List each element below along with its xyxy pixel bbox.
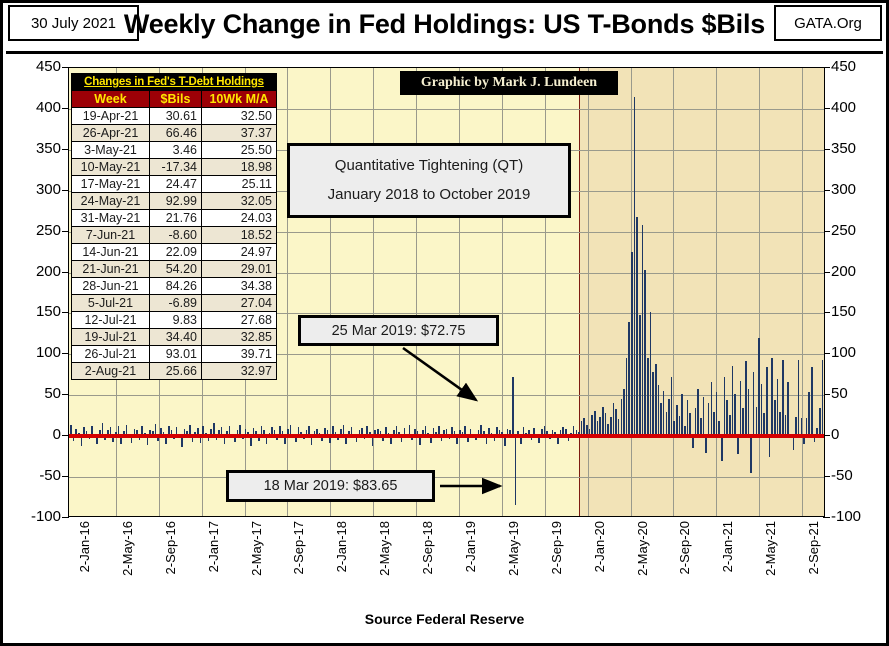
table-row: 31-May-2121.7624.03 xyxy=(72,210,277,227)
bar xyxy=(769,436,771,456)
cell-bils: 66.46 xyxy=(150,125,202,142)
bar xyxy=(819,408,821,436)
cell-bils: 92.99 xyxy=(150,193,202,210)
bar xyxy=(681,394,683,437)
cell-bils: 3.46 xyxy=(150,142,202,159)
page-title: Weekly Change in Fed Holdings: US T-Bond… xyxy=(3,9,886,40)
bar xyxy=(771,358,773,437)
cell-week: 7-Jun-21 xyxy=(72,227,150,244)
bar xyxy=(753,372,755,436)
bar xyxy=(613,403,615,437)
cell-week: 12-Jul-21 xyxy=(72,312,150,329)
bar xyxy=(591,415,593,436)
x-axis-tick-label: 2-Sep-18 xyxy=(420,521,435,574)
y-axis-tick-label: -50 xyxy=(831,469,877,483)
cell-bils: 22.09 xyxy=(150,244,202,261)
bar xyxy=(631,252,633,436)
y-axis-tick-label: 250 xyxy=(17,224,61,238)
cell-week: 10-May-21 xyxy=(72,159,150,176)
bar xyxy=(605,413,607,436)
bar xyxy=(655,364,657,436)
cell-ma: 25.50 xyxy=(202,142,277,159)
bar xyxy=(594,411,596,436)
header-divider xyxy=(6,51,883,54)
bar xyxy=(639,315,641,436)
y-axis-tick-label: 400 xyxy=(17,101,61,115)
cell-bils: -6.89 xyxy=(150,295,202,312)
bar xyxy=(644,270,646,436)
x-axis-tick-label: 2-Jan-20 xyxy=(592,521,607,572)
bar xyxy=(716,392,718,436)
bar xyxy=(782,360,784,436)
x-axis-tick-label: 2-Sep-21 xyxy=(806,521,821,574)
cell-week: 3-May-21 xyxy=(72,142,150,159)
cell-ma: 32.05 xyxy=(202,193,277,210)
callout-low-box: 18 Mar 2019: $83.65 xyxy=(226,470,435,502)
zero-line xyxy=(69,434,825,438)
bar xyxy=(602,407,604,436)
bar xyxy=(697,389,699,436)
cell-bils: -8.60 xyxy=(150,227,202,244)
table-head: Changes in Fed's T-Debt Holdings Week $B… xyxy=(72,74,277,108)
cell-week: 17-May-21 xyxy=(72,176,150,193)
y-axis-tick-label: 450 xyxy=(17,60,61,74)
bar xyxy=(798,360,800,436)
cell-ma: 32.97 xyxy=(202,363,277,380)
cell-week: 21-Jun-21 xyxy=(72,261,150,278)
cell-ma: 37.37 xyxy=(202,125,277,142)
bar xyxy=(785,415,787,436)
bar xyxy=(732,366,734,436)
x-axis-tick-label: 2-Sep-19 xyxy=(549,521,564,574)
cell-week: 2-Aug-21 xyxy=(72,363,150,380)
x-axis-tick-label: 2-Sep-16 xyxy=(163,521,178,574)
cell-bils: 84.26 xyxy=(150,278,202,295)
x-axis-tick-label: 2-May-21 xyxy=(763,521,778,576)
cell-bils: 9.83 xyxy=(150,312,202,329)
cell-ma: 27.04 xyxy=(202,295,277,312)
cell-ma: 27.68 xyxy=(202,312,277,329)
table-row: 7-Jun-21-8.6018.52 xyxy=(72,227,277,244)
bar xyxy=(745,361,747,436)
cell-bils: 93.01 xyxy=(150,346,202,363)
bar xyxy=(763,413,765,436)
bar xyxy=(824,415,825,436)
bar xyxy=(787,382,789,436)
bar xyxy=(663,391,665,436)
cell-ma: 32.85 xyxy=(202,329,277,346)
bar xyxy=(758,338,760,436)
x-axis: 2-Jan-162-May-162-Sep-162-Jan-172-May-17… xyxy=(68,521,825,611)
table-row: 28-Jun-2184.2634.38 xyxy=(72,278,277,295)
y-axis-tick-label: 150 xyxy=(17,305,61,319)
cell-ma: 32.50 xyxy=(202,108,277,125)
table-row: 2-Aug-2125.6632.97 xyxy=(72,363,277,380)
bar xyxy=(666,412,668,437)
y-axis-tick-label: 150 xyxy=(831,305,877,319)
table-row: 19-Apr-2130.6132.50 xyxy=(72,108,277,125)
table-row: 12-Jul-219.8327.68 xyxy=(72,312,277,329)
x-axis-tick-label: 2-May-19 xyxy=(506,521,521,576)
table-row: 21-Jun-2154.2029.01 xyxy=(72,261,277,278)
y-axis-tick-label: 300 xyxy=(17,183,61,197)
bar xyxy=(793,436,795,450)
bar xyxy=(734,394,736,437)
qt-annotation-line2: January 2018 to October 2019 xyxy=(328,181,531,210)
y-axis-tick-label: -100 xyxy=(831,510,877,524)
chart-body: 450400350300250200150100500-50-100 45040… xyxy=(3,55,886,646)
cell-ma: 18.52 xyxy=(202,227,277,244)
bar xyxy=(652,372,654,436)
column-header-bils: $Bils xyxy=(150,91,202,108)
y-axis-tick-mark xyxy=(62,517,69,518)
x-axis-tick-label: 2-May-16 xyxy=(120,521,135,576)
bar xyxy=(774,400,776,436)
table-caption-row: Changes in Fed's T-Debt Holdings xyxy=(72,74,277,91)
cell-week: 31-May-21 xyxy=(72,210,150,227)
bar xyxy=(703,397,705,436)
cell-bils: 54.20 xyxy=(150,261,202,278)
table-row: 19-Jul-2134.4032.85 xyxy=(72,329,277,346)
qt-annotation-line1: Quantitative Tightening (QT) xyxy=(335,152,523,181)
table-row: 24-May-2192.9932.05 xyxy=(72,193,277,210)
bar xyxy=(811,367,813,436)
cell-week: 5-Jul-21 xyxy=(72,295,150,312)
bar xyxy=(676,405,678,436)
bar xyxy=(636,217,638,436)
cell-ma: 34.38 xyxy=(202,278,277,295)
y-axis-right: 450400350300250200150100500-50-100 xyxy=(831,67,881,517)
bar xyxy=(623,389,625,436)
table-row: 26-Jul-2193.0139.71 xyxy=(72,346,277,363)
bar xyxy=(724,377,726,436)
cell-bils: 21.76 xyxy=(150,210,202,227)
y-axis-tick-label: 200 xyxy=(17,265,61,279)
cell-week: 26-Jul-21 xyxy=(72,346,150,363)
x-axis-tick-label: 2-May-18 xyxy=(377,521,392,576)
chart-header: 30 July 2021 Weekly Change in Fed Holdin… xyxy=(3,3,886,55)
y-axis-tick-label: 400 xyxy=(831,101,877,115)
y-axis-tick-label: 50 xyxy=(831,387,877,401)
bar xyxy=(721,436,723,461)
qt-annotation-box: Quantitative Tightening (QT) January 201… xyxy=(287,143,571,218)
bar xyxy=(628,322,630,437)
bar xyxy=(711,382,713,436)
callout-high-box: 25 Mar 2019: $72.75 xyxy=(298,315,499,346)
cell-week: 24-May-21 xyxy=(72,193,150,210)
bar xyxy=(634,97,636,437)
bar xyxy=(737,436,739,454)
bar xyxy=(687,400,689,436)
bar xyxy=(726,400,728,436)
cell-week: 28-Jun-21 xyxy=(72,278,150,295)
y-axis-tick-label: 300 xyxy=(831,183,877,197)
cell-ma: 29.01 xyxy=(202,261,277,278)
cell-ma: 24.03 xyxy=(202,210,277,227)
bar xyxy=(713,412,715,437)
x-axis-tick-label: 2-Jan-18 xyxy=(334,521,349,572)
cell-bils: 24.47 xyxy=(150,176,202,193)
credit-badge: Graphic by Mark J. Lundeen xyxy=(400,71,618,95)
cell-bils: 30.61 xyxy=(150,108,202,125)
cell-ma: 39.71 xyxy=(202,346,277,363)
bar xyxy=(742,408,744,436)
source-org-badge: GATA.Org xyxy=(774,5,882,41)
bar xyxy=(671,377,673,436)
bar xyxy=(708,403,710,436)
x-axis-title: Source Federal Reserve xyxy=(3,611,886,627)
cell-week: 14-Jun-21 xyxy=(72,244,150,261)
cell-bils: -17.34 xyxy=(150,159,202,176)
fed-holdings-table: Changes in Fed's T-Debt Holdings Week $B… xyxy=(71,73,277,380)
bar xyxy=(668,399,670,437)
column-header-ma: 10Wk M/A xyxy=(202,91,277,108)
x-axis-tick-label: 2-Sep-17 xyxy=(291,521,306,574)
x-axis-tick-label: 2-Jan-17 xyxy=(206,521,221,572)
bar xyxy=(729,415,731,436)
bar xyxy=(621,399,623,437)
chart-frame: 30 July 2021 Weekly Change in Fed Holdin… xyxy=(0,0,889,646)
bar xyxy=(705,436,707,452)
cell-week: 26-Apr-21 xyxy=(72,125,150,142)
table-header-row: Week $Bils 10Wk M/A xyxy=(72,91,277,108)
bar xyxy=(689,413,691,436)
bar xyxy=(777,379,779,436)
table-row: 14-Jun-2122.0924.97 xyxy=(72,244,277,261)
y-axis-tick-label: 50 xyxy=(17,387,61,401)
bar xyxy=(512,377,514,437)
y-axis-tick-label: 100 xyxy=(831,346,877,360)
bar xyxy=(515,436,517,504)
bar xyxy=(626,358,628,436)
bar xyxy=(822,360,824,436)
y-axis-tick-mark xyxy=(823,517,830,518)
y-axis-tick-label: -100 xyxy=(17,510,61,524)
bar xyxy=(748,389,750,436)
table-caption: Changes in Fed's T-Debt Holdings xyxy=(72,74,277,91)
bar xyxy=(679,416,681,436)
cell-bils: 34.40 xyxy=(150,329,202,346)
x-axis-tick-label: 2-Jan-16 xyxy=(77,521,92,572)
y-axis-tick-label: -50 xyxy=(17,469,61,483)
x-axis-tick-label: 2-May-20 xyxy=(635,521,650,576)
bar xyxy=(695,408,697,437)
y-axis-tick-label: 250 xyxy=(831,224,877,238)
bar xyxy=(779,412,781,437)
table-row: 26-Apr-2166.4637.37 xyxy=(72,125,277,142)
bar xyxy=(808,392,810,436)
x-axis-tick-label: 2-Jan-21 xyxy=(720,521,735,572)
x-axis-tick-label: 2-May-17 xyxy=(249,521,264,576)
cell-week: 19-Apr-21 xyxy=(72,108,150,125)
y-axis-tick-label: 350 xyxy=(831,142,877,156)
x-axis-tick-label: 2-Sep-20 xyxy=(677,521,692,574)
bar xyxy=(761,384,763,436)
cell-ma: 24.97 xyxy=(202,244,277,261)
table-row: 5-Jul-21-6.8927.04 xyxy=(72,295,277,312)
y-axis-tick-label: 0 xyxy=(17,428,61,442)
y-axis-tick-label: 100 xyxy=(17,346,61,360)
table-row: 17-May-2124.4725.11 xyxy=(72,176,277,193)
table-row: 10-May-21-17.3418.98 xyxy=(72,159,277,176)
y-axis-left: 450400350300250200150100500-50-100 xyxy=(11,67,61,517)
bar xyxy=(756,407,758,436)
bar xyxy=(660,403,662,437)
bar xyxy=(658,385,660,436)
bar xyxy=(750,436,752,473)
cell-week: 19-Jul-21 xyxy=(72,329,150,346)
y-axis-tick-label: 200 xyxy=(831,265,877,279)
bar xyxy=(650,312,652,436)
bar xyxy=(740,381,742,437)
y-axis-tick-label: 450 xyxy=(831,60,877,74)
bar xyxy=(766,367,768,436)
cell-ma: 25.11 xyxy=(202,176,277,193)
cell-bils: 25.66 xyxy=(150,363,202,380)
bar xyxy=(647,358,649,437)
cell-ma: 18.98 xyxy=(202,159,277,176)
column-header-week: Week xyxy=(72,91,150,108)
table-row: 3-May-213.4625.50 xyxy=(72,142,277,159)
y-axis-tick-label: 0 xyxy=(831,428,877,442)
bar xyxy=(642,225,644,436)
bar xyxy=(615,409,617,436)
x-axis-tick-label: 2-Jan-19 xyxy=(463,521,478,572)
table-body: 19-Apr-2130.6132.5026-Apr-2166.4637.373-… xyxy=(72,108,277,380)
y-axis-tick-label: 350 xyxy=(17,142,61,156)
